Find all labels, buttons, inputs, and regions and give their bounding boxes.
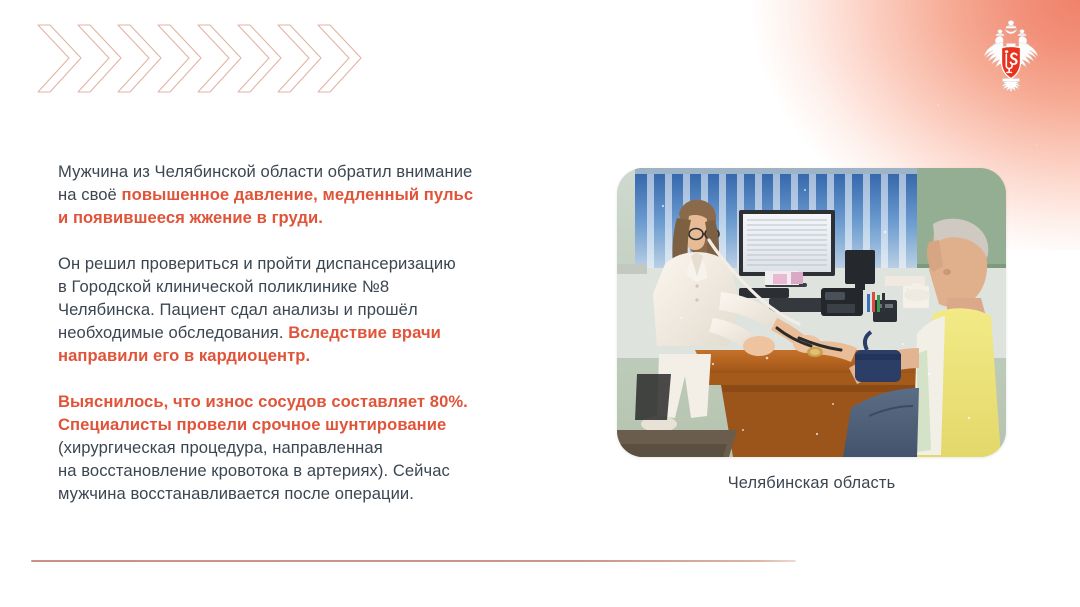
text-run: (хирургическая процедура, направленная н… [58, 438, 450, 503]
bottom-divider [31, 560, 796, 562]
clinic-photo [617, 168, 1006, 457]
chevron-band-decoration [36, 22, 372, 96]
paragraph-3: Выяснилось, что износ сосудов составляет… [58, 390, 578, 506]
highlighted-text-run: Выяснилось, что износ сосудов составляет… [58, 392, 468, 434]
slide-root: Мужчина из Челябинской области обратил в… [0, 0, 1080, 607]
photo-caption: Челябинская область [617, 474, 1006, 493]
paragraph-1: Мужчина из Челябинской области обратил в… [58, 160, 578, 230]
ministry-of-health-eagle-emblem [976, 18, 1046, 98]
story-text-column: Мужчина из Челябинской области обратил в… [58, 160, 578, 506]
paragraph-2: Он решил провериться и пройти диспансери… [58, 252, 578, 368]
